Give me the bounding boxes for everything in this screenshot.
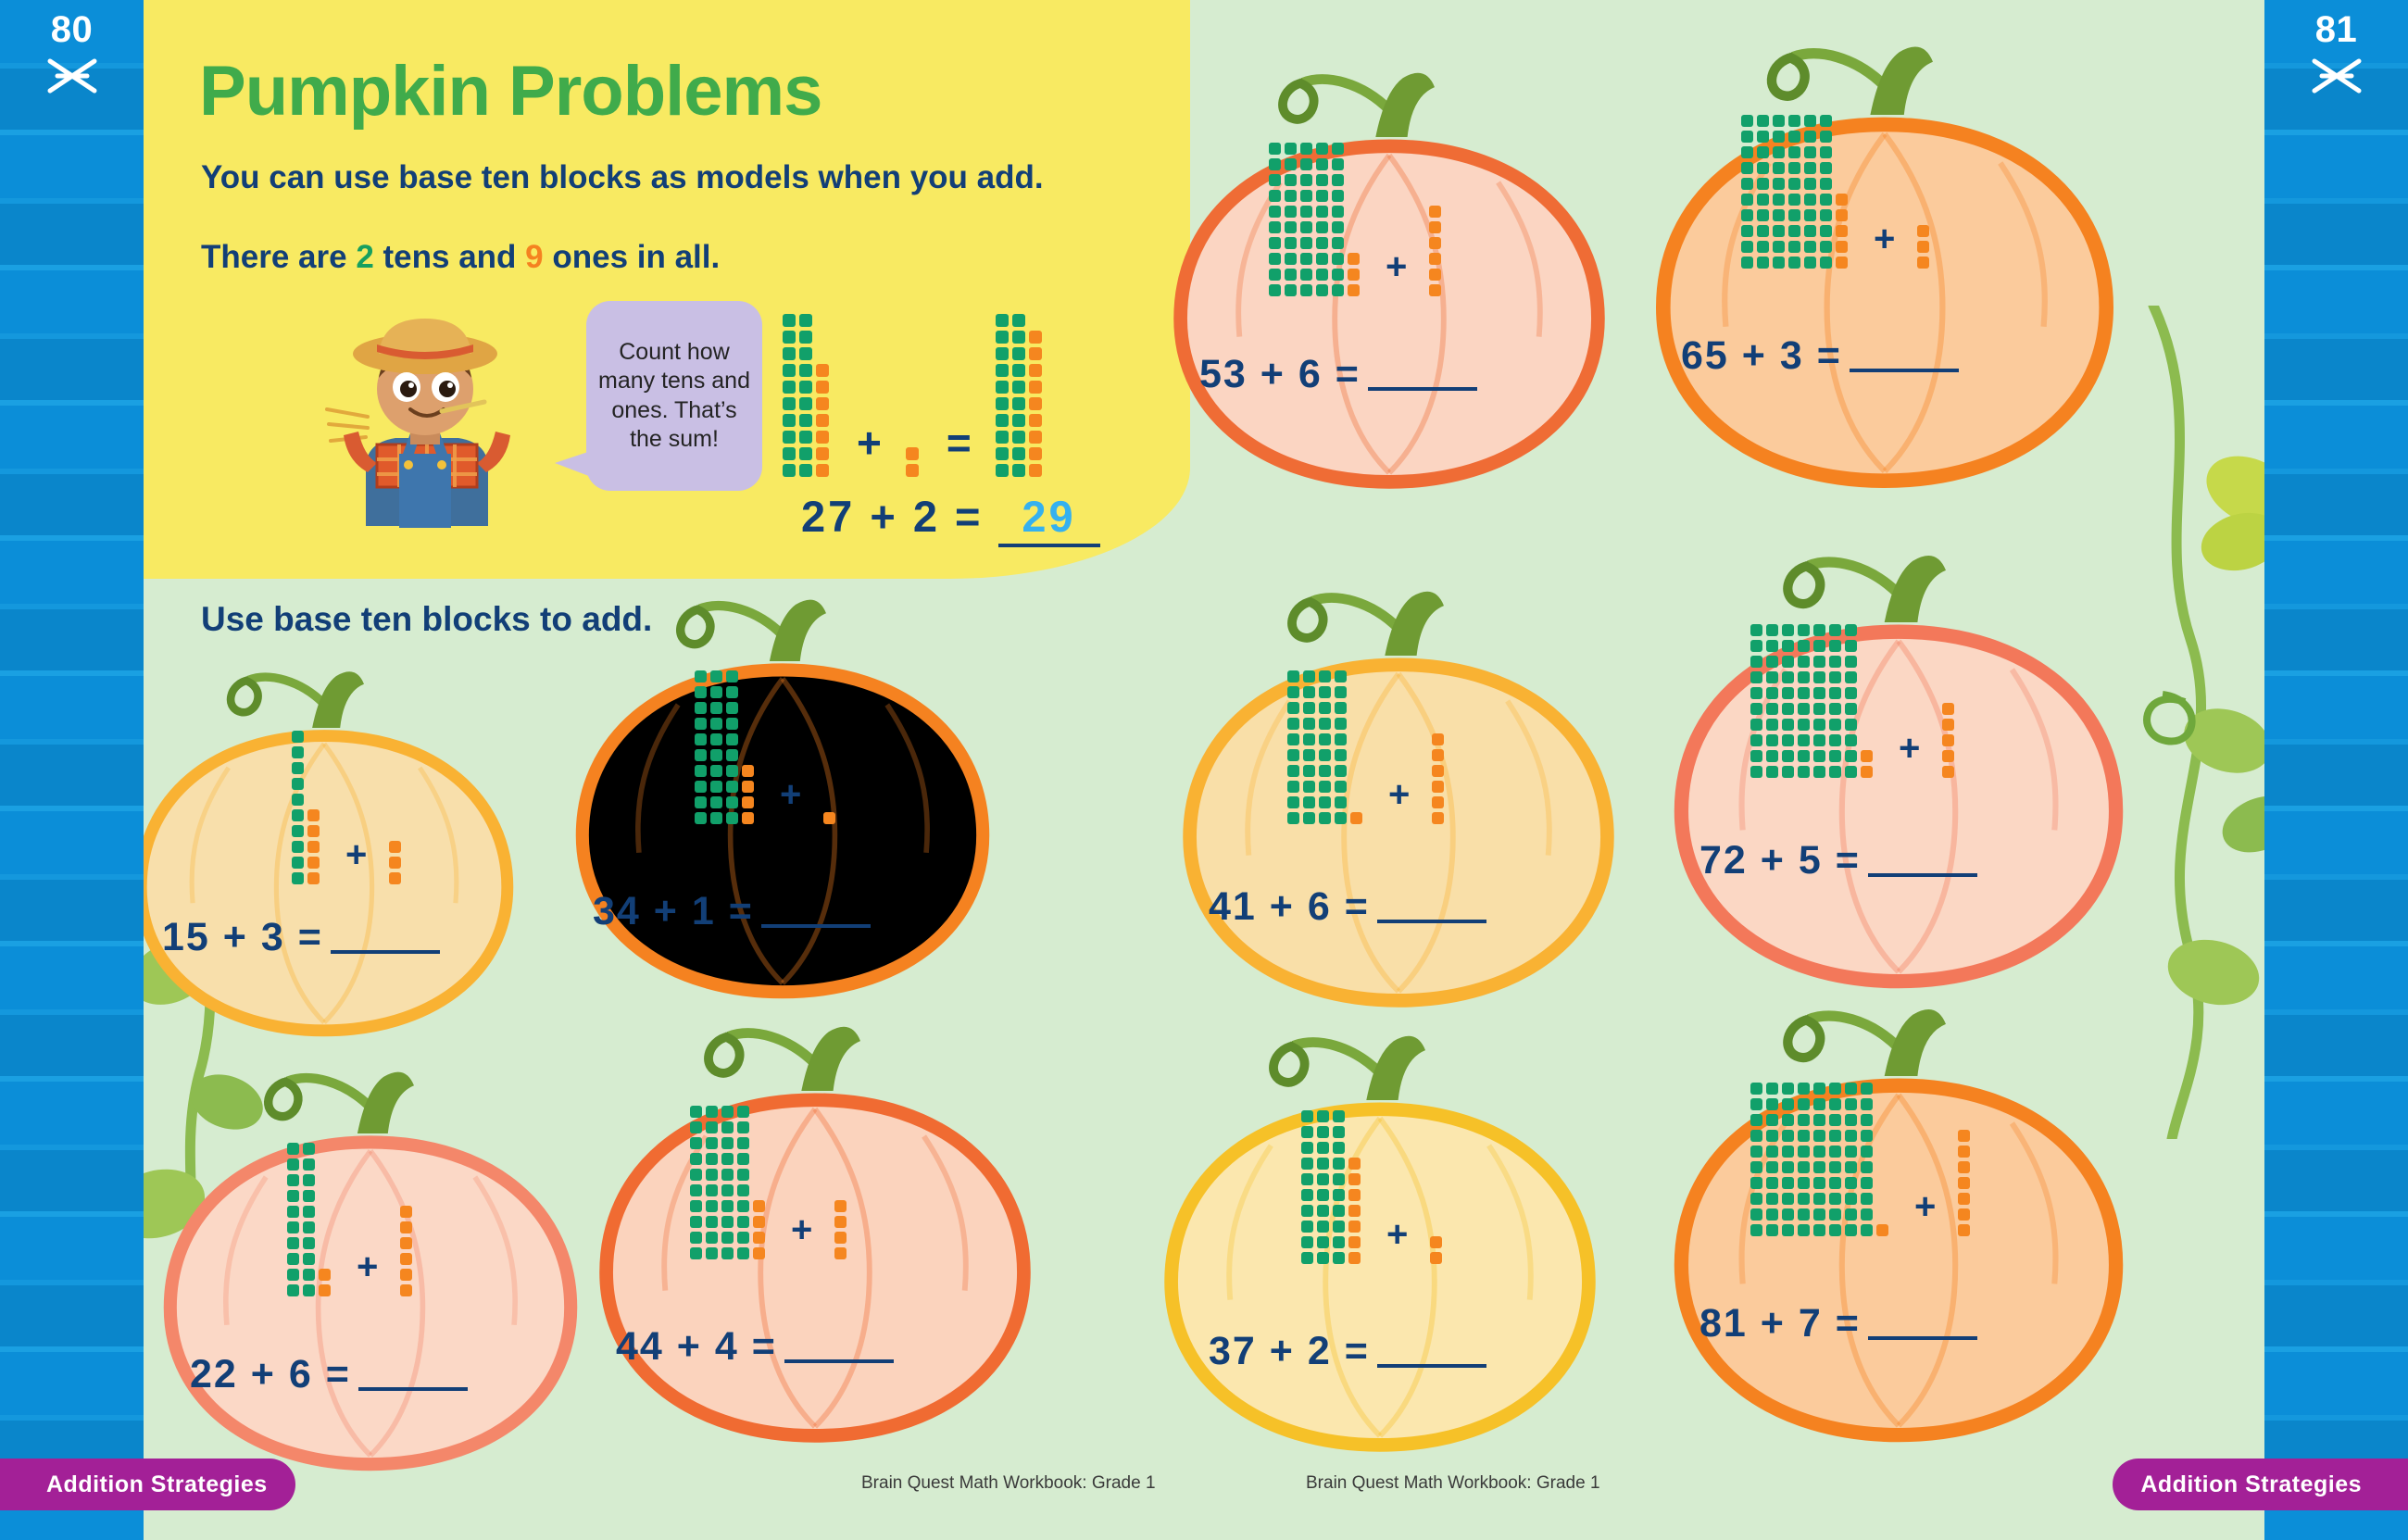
ten-block-cell: [1300, 190, 1312, 202]
ten-block-cell: [1845, 1177, 1857, 1189]
one-block-cell: [307, 809, 320, 821]
plus-icon: +: [1386, 1216, 1408, 1253]
ten-block-cell: [1332, 237, 1344, 249]
ten-block-cell: [1766, 719, 1778, 731]
problem-card-p5[interactable]: +53 + 6 =: [1162, 46, 1616, 463]
ten-block-cell: [721, 1121, 734, 1133]
ten-block-cell: [1798, 671, 1810, 683]
problem-equation: 81 + 7 =: [1699, 1301, 1977, 1346]
ten-block-cell: [1773, 115, 1785, 127]
ten-block-cell: [1301, 1126, 1313, 1138]
problem-content: +81 + 7 =: [1662, 982, 2135, 1417]
one-block-cell: [816, 397, 829, 410]
ten-block-cell: [1333, 1236, 1345, 1248]
ten-block-cell: [1766, 1130, 1778, 1142]
ten-block-cell: [1798, 1193, 1810, 1205]
ten-block-cell: [287, 1206, 299, 1218]
ten-block-cell: [1316, 206, 1328, 218]
ten-block-cell: [1798, 1224, 1810, 1236]
ten-block-cell: [1766, 1224, 1778, 1236]
tens-rod: [1332, 139, 1344, 296]
problem-card-p4[interactable]: +44 + 4 =: [588, 1000, 1042, 1435]
ten-block-cell: [737, 1216, 749, 1228]
ten-block-cell: [1303, 733, 1315, 745]
ten-block-cell: [287, 1174, 299, 1186]
base-ten-model: +: [287, 1139, 416, 1296]
example-equals-icon: =: [947, 421, 972, 464]
ten-block-cell: [1285, 221, 1297, 233]
ten-block-cell: [1285, 206, 1297, 218]
ten-block-cell: [1782, 624, 1794, 636]
addend-a-blocks: [1750, 620, 1876, 778]
ten-block-cell: [737, 1137, 749, 1149]
credit-left: Brain Quest Math Workbook: Grade 1: [861, 1473, 1156, 1494]
ten-block-cell: [1804, 209, 1816, 221]
one-block-cell: [1348, 1252, 1361, 1264]
ones-column: [400, 1202, 412, 1296]
problem-card-p9[interactable]: +37 + 2 =: [1153, 1009, 1607, 1445]
ten-block-cell: [1750, 1224, 1762, 1236]
problem-content: +72 + 5 =: [1662, 528, 2135, 954]
ten-block-cell: [1813, 734, 1825, 746]
ten-block-cell: [1766, 703, 1778, 715]
ten-block-cell: [690, 1153, 702, 1165]
ten-block-cell: [1798, 750, 1810, 762]
plus-icon: +: [345, 836, 367, 873]
ten-block-cell: [1829, 1208, 1841, 1221]
pencil-icon: [2309, 56, 2364, 96]
problem-content: +15 + 3 =: [144, 648, 523, 1019]
tens-rod: [1317, 1107, 1329, 1264]
example-sum-blocks: [996, 310, 1046, 477]
ten-block-cell: [1782, 1130, 1794, 1142]
ten-block-cell: [1319, 796, 1331, 808]
one-block-cell: [307, 841, 320, 853]
ten-block-cell: [1798, 1083, 1810, 1095]
one-block-cell: [1348, 284, 1360, 296]
addend-b-blocks: [1432, 730, 1448, 824]
ten-block-cell: [1829, 624, 1841, 636]
ten-block-cell: [1741, 131, 1753, 143]
ten-block-cell: [1829, 1146, 1841, 1158]
ten-block-cell: [799, 381, 812, 394]
ten-block-cell: [1287, 812, 1299, 824]
ten-block-cell: [1829, 734, 1841, 746]
ten-block-cell: [1845, 671, 1857, 683]
ten-block-cell: [1319, 781, 1331, 793]
ten-block-cell: [996, 381, 1009, 394]
tens-rod: [1757, 111, 1769, 269]
plus-icon: +: [791, 1211, 812, 1248]
ten-block-cell: [1757, 225, 1769, 237]
ten-block-cell: [996, 347, 1009, 360]
ten-block-cell: [1757, 194, 1769, 206]
page-number-left-corner: 80: [0, 9, 144, 148]
ten-block-cell: [737, 1184, 749, 1196]
ten-block-cell: [1300, 284, 1312, 296]
ten-block-cell: [1269, 158, 1281, 170]
ten-block-cell: [1335, 781, 1347, 793]
ten-block-cell: [1798, 687, 1810, 699]
one-block-cell: [307, 825, 320, 837]
ten-block-cell: [1012, 381, 1025, 394]
tens-rod: [1316, 139, 1328, 296]
answer-blank[interactable]: [358, 1361, 468, 1391]
ten-block-cell: [1813, 640, 1825, 652]
one-block-cell: [1942, 766, 1954, 778]
ten-block-cell: [1750, 640, 1762, 652]
one-block-cell: [400, 1269, 412, 1281]
ten-block-cell: [1269, 174, 1281, 186]
tens-rod: [1300, 139, 1312, 296]
equation-text: 37 + 2 =: [1209, 1329, 1370, 1373]
tens-rod: [706, 1102, 718, 1259]
footer-tag-left: Addition Strategies: [0, 1459, 295, 1510]
ten-block-cell: [690, 1216, 702, 1228]
ten-block-cell: [1750, 1177, 1762, 1189]
answer-blank[interactable]: [1868, 847, 1977, 877]
ten-block-cell: [1301, 1173, 1313, 1185]
ten-block-cell: [303, 1190, 315, 1202]
one-block-cell: [400, 1284, 412, 1296]
ten-block-cell: [1750, 1098, 1762, 1110]
ten-block-cell: [1757, 115, 1769, 127]
answer-blank[interactable]: [784, 1333, 894, 1363]
ten-block-cell: [1798, 1114, 1810, 1126]
ten-block-cell: [1829, 1083, 1841, 1095]
problem-card-p3[interactable]: +22 + 6 =: [153, 1046, 588, 1463]
ten-block-cell: [1317, 1158, 1329, 1170]
ten-block-cell: [1829, 687, 1841, 699]
ten-block-cell: [706, 1232, 718, 1244]
one-block-cell: [1836, 257, 1848, 269]
one-block-cell: [1429, 237, 1441, 249]
ten-block-cell: [303, 1174, 315, 1186]
ten-block-cell: [292, 746, 304, 758]
ten-block-cell: [721, 1153, 734, 1165]
ten-block-cell: [726, 765, 738, 777]
one-block-cell: [816, 381, 829, 394]
base-ten-model: +: [695, 667, 839, 824]
one-block-cell: [1429, 221, 1441, 233]
ten-block-cell: [1788, 194, 1800, 206]
equation-text: 53 + 6 =: [1199, 352, 1361, 396]
ten-block-cell: [783, 314, 796, 327]
ten-block-cell: [1757, 178, 1769, 190]
ones-column: [823, 808, 835, 824]
ten-block-cell: [737, 1121, 749, 1133]
one-block-cell: [1917, 241, 1929, 253]
ten-block-cell: [1782, 1098, 1794, 1110]
one-block-cell: [1942, 734, 1954, 746]
ones-column: [1429, 202, 1441, 296]
plus-icon: +: [1899, 730, 1920, 767]
ten-block-cell: [1798, 624, 1810, 636]
ten-block-cell: [292, 809, 304, 821]
footer-tag-right: Addition Strategies: [2113, 1459, 2408, 1510]
tens-rod: [1845, 620, 1857, 778]
ten-block-cell: [1319, 686, 1331, 698]
ten-block-cell: [1798, 1098, 1810, 1110]
problem-card-p6[interactable]: +65 + 3 =: [1644, 19, 2126, 454]
ten-block-cell: [1285, 237, 1297, 249]
addend-b-blocks: [1917, 221, 1933, 269]
one-block-cell: [1430, 1252, 1442, 1264]
ten-block-cell: [1820, 131, 1832, 143]
ten-block-cell: [721, 1200, 734, 1212]
answer-blank[interactable]: [1377, 894, 1486, 923]
base-ten-model: +: [690, 1102, 850, 1259]
one-block-cell: [823, 812, 835, 824]
ones-column: [1348, 249, 1360, 296]
problem-equation: 65 + 3 =: [1681, 333, 1959, 379]
answer-blank[interactable]: [1850, 343, 1959, 372]
ten-block-cell: [799, 431, 812, 444]
ten-block-cell: [1766, 687, 1778, 699]
ten-block-cell: [1333, 1189, 1345, 1201]
ten-block-cell: [1316, 221, 1328, 233]
tens-rod: [690, 1102, 702, 1259]
problem-card-p10[interactable]: +81 + 7 =: [1662, 982, 2135, 1417]
ten-block-cell: [1788, 115, 1800, 127]
ten-block-cell: [287, 1190, 299, 1202]
ten-block-cell: [1741, 225, 1753, 237]
ten-block-cell: [1773, 162, 1785, 174]
one-block-cell: [1958, 1224, 1970, 1236]
ten-block-cell: [1813, 1114, 1825, 1126]
one-block-cell: [1348, 1173, 1361, 1185]
ten-block-cell: [1319, 702, 1331, 714]
ten-block-cell: [1301, 1158, 1313, 1170]
ten-block-cell: [1766, 671, 1778, 683]
ten-block-cell: [1269, 143, 1281, 155]
ten-block-cell: [1741, 241, 1753, 253]
ten-block-cell: [1845, 1098, 1857, 1110]
ten-block-cell: [1845, 1114, 1857, 1126]
ten-block-cell: [1335, 765, 1347, 777]
one-block-cell: [1958, 1177, 1970, 1189]
ones-column: [906, 444, 919, 477]
tens-rod: [1012, 310, 1025, 477]
ten-block-cell: [695, 812, 707, 824]
ten-block-cell: [1861, 1161, 1873, 1173]
ten-block-cell: [292, 825, 304, 837]
ten-block-cell: [1287, 749, 1299, 761]
ten-block-cell: [1317, 1142, 1329, 1154]
ten-block-cell: [996, 464, 1009, 477]
one-block-cell: [742, 781, 754, 793]
one-block-cell: [400, 1237, 412, 1249]
ten-block-cell: [726, 686, 738, 698]
ten-block-cell: [287, 1143, 299, 1155]
plus-icon: +: [357, 1248, 378, 1285]
one-block-cell: [816, 364, 829, 377]
tens-rod: [1829, 620, 1841, 778]
ten-block-cell: [1788, 257, 1800, 269]
ten-block-cell: [1829, 1130, 1841, 1142]
ten-block-cell: [1782, 1146, 1794, 1158]
tens-rod: [1766, 1079, 1778, 1236]
answer-blank[interactable]: [761, 898, 871, 928]
ten-block-cell: [1813, 719, 1825, 731]
ten-block-cell: [783, 447, 796, 460]
ones-column: [834, 1196, 847, 1259]
plus-icon: +: [780, 776, 801, 813]
ten-block-cell: [1303, 812, 1315, 824]
ten-block-cell: [1335, 718, 1347, 730]
problem-card-p7[interactable]: +41 + 6 =: [1172, 565, 1625, 991]
ten-block-cell: [1301, 1252, 1313, 1264]
one-block-cell: [906, 447, 919, 460]
ten-block-cell: [1820, 115, 1832, 127]
ten-block-cell: [1750, 1130, 1762, 1142]
base-ten-model: +: [292, 727, 405, 884]
answer-blank[interactable]: [1868, 1310, 1977, 1340]
ten-block-cell: [1269, 269, 1281, 281]
ten-block-cell: [710, 686, 722, 698]
ten-block-cell: [1813, 671, 1825, 683]
ten-block-cell: [710, 781, 722, 793]
ten-block-cell: [1317, 1221, 1329, 1233]
ten-block-cell: [1750, 671, 1762, 683]
ten-block-cell: [1301, 1236, 1313, 1248]
ten-block-cell: [1845, 656, 1857, 668]
ten-block-cell: [303, 1143, 315, 1155]
ten-block-cell: [690, 1137, 702, 1149]
ten-block-cell: [799, 414, 812, 427]
ten-block-cell: [1820, 241, 1832, 253]
ten-block-cell: [799, 331, 812, 344]
tens-rod: [1813, 620, 1825, 778]
one-block-cell: [816, 414, 829, 427]
ten-block-cell: [292, 778, 304, 790]
one-block-cell: [1029, 397, 1042, 410]
ten-block-cell: [1845, 766, 1857, 778]
one-block-cell: [1836, 194, 1848, 206]
tens-rod: [292, 727, 304, 884]
one-block-cell: [1861, 766, 1873, 778]
sum-sentence: There are 2 tens and 9 ones in all.: [201, 239, 720, 276]
ten-block-cell: [1804, 146, 1816, 158]
one-block-cell: [816, 431, 829, 444]
pencil-icon: [44, 56, 100, 96]
example-addend-a-blocks: [783, 310, 833, 477]
tens-rod: [695, 667, 707, 824]
ten-block-cell: [710, 733, 722, 745]
one-block-cell: [400, 1253, 412, 1265]
ten-block-cell: [1332, 143, 1344, 155]
plus-icon: +: [1874, 220, 1895, 257]
base-ten-model: +: [1750, 1079, 1974, 1236]
one-block-cell: [753, 1247, 765, 1259]
ten-block-cell: [1757, 241, 1769, 253]
tens-rod: [303, 1139, 315, 1296]
ten-block-cell: [1301, 1142, 1313, 1154]
ten-block-cell: [1750, 687, 1762, 699]
ten-block-cell: [1766, 766, 1778, 778]
ten-block-cell: [721, 1137, 734, 1149]
ten-block-cell: [726, 796, 738, 808]
problem-equation: 53 + 6 =: [1199, 352, 1477, 397]
ten-block-cell: [1300, 237, 1312, 249]
ten-block-cell: [1845, 1083, 1857, 1095]
one-block-cell: [1348, 1221, 1361, 1233]
ten-block-cell: [1287, 733, 1299, 745]
ten-block-cell: [1741, 162, 1753, 174]
ten-block-cell: [1782, 766, 1794, 778]
ten-block-cell: [1773, 257, 1785, 269]
ten-block-cell: [287, 1269, 299, 1281]
problem-card-p1[interactable]: +15 + 3 =: [144, 648, 523, 1019]
addend-b-blocks: [1430, 1233, 1446, 1264]
ten-block-cell: [1750, 703, 1762, 715]
ten-block-cell: [1782, 1114, 1794, 1126]
ten-block-cell: [706, 1169, 718, 1181]
equation-text: 44 + 4 =: [616, 1324, 777, 1369]
ten-block-cell: [1012, 431, 1025, 444]
ten-block-cell: [1285, 143, 1297, 155]
ten-block-cell: [1861, 1098, 1873, 1110]
ten-block-cell: [1333, 1173, 1345, 1185]
ten-block-cell: [737, 1247, 749, 1259]
problem-equation: 34 + 1 =: [593, 889, 871, 934]
ten-block-cell: [799, 464, 812, 477]
ten-block-cell: [1829, 1161, 1841, 1173]
addend-a-blocks: [292, 727, 323, 884]
ten-block-cell: [1317, 1252, 1329, 1264]
tens-rod: [1798, 1079, 1810, 1236]
ten-block-cell: [721, 1216, 734, 1228]
problem-equation: 72 + 5 =: [1699, 838, 1977, 883]
ten-block-cell: [1766, 1161, 1778, 1173]
ten-block-cell: [1316, 284, 1328, 296]
tens-rod: [1766, 620, 1778, 778]
ones-column: [1029, 327, 1042, 477]
one-block-cell: [1348, 1189, 1361, 1201]
ten-block-cell: [1773, 178, 1785, 190]
one-block-cell: [400, 1206, 412, 1218]
ten-block-cell: [690, 1106, 702, 1118]
tens-rod: [799, 310, 812, 477]
one-block-cell: [816, 447, 829, 460]
ten-block-cell: [1829, 766, 1841, 778]
answer-blank[interactable]: [1377, 1338, 1486, 1368]
addend-b-blocks: [389, 837, 405, 884]
answer-blank[interactable]: [331, 924, 440, 954]
ten-block-cell: [1773, 131, 1785, 143]
ten-block-cell: [1317, 1236, 1329, 1248]
ten-block-cell: [1332, 221, 1344, 233]
one-block-cell: [1348, 269, 1360, 281]
ten-block-cell: [710, 702, 722, 714]
exercise-instruction: Use base ten blocks to add.: [201, 600, 652, 639]
answer-blank[interactable]: [1368, 361, 1477, 391]
ten-block-cell: [1813, 766, 1825, 778]
speech-bubble-text: Count how many tens and ones. That’s the…: [586, 338, 762, 454]
ten-block-cell: [1788, 146, 1800, 158]
ten-block-cell: [1845, 687, 1857, 699]
tens-rod: [996, 310, 1009, 477]
one-block-cell: [1429, 206, 1441, 218]
problem-card-p8[interactable]: +72 + 5 =: [1662, 528, 2135, 954]
ten-block-cell: [1766, 750, 1778, 762]
ten-block-cell: [1804, 257, 1816, 269]
sum-prefix: There are: [201, 239, 356, 275]
ten-block-cell: [1845, 1161, 1857, 1173]
ten-block-cell: [1798, 719, 1810, 731]
ten-block-cell: [1788, 162, 1800, 174]
page-number-left: 80: [0, 9, 144, 50]
